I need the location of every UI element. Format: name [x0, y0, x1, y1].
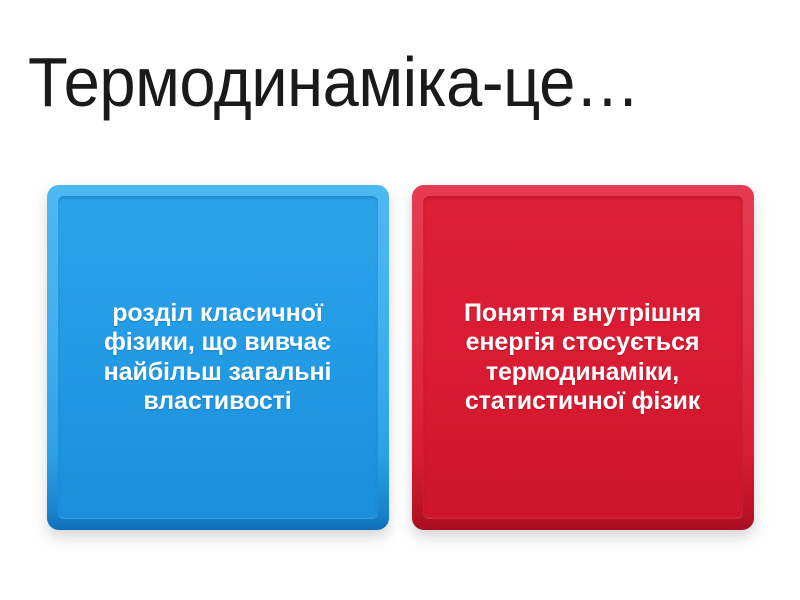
- answer-card-blue-inner: розділ класичної фізики, що вивчає найбі…: [58, 196, 378, 519]
- answer-card-blue-label: розділ класичної фізики, що вивчає найбі…: [72, 299, 364, 416]
- quiz-stage: Термодинаміка-це… розділ класичної фізик…: [0, 0, 800, 600]
- answer-card-blue[interactable]: розділ класичної фізики, що вивчає найбі…: [47, 185, 389, 530]
- page-title: Термодинаміка-це…: [28, 40, 742, 124]
- answer-options-container: розділ класичної фізики, що вивчає найбі…: [0, 185, 800, 530]
- answer-card-red[interactable]: Поняття внутрішня енергія стосується тер…: [412, 185, 754, 530]
- answer-card-red-label: Поняття внутрішня енергія стосується тер…: [437, 299, 729, 416]
- answer-card-red-inner: Поняття внутрішня енергія стосується тер…: [423, 196, 743, 519]
